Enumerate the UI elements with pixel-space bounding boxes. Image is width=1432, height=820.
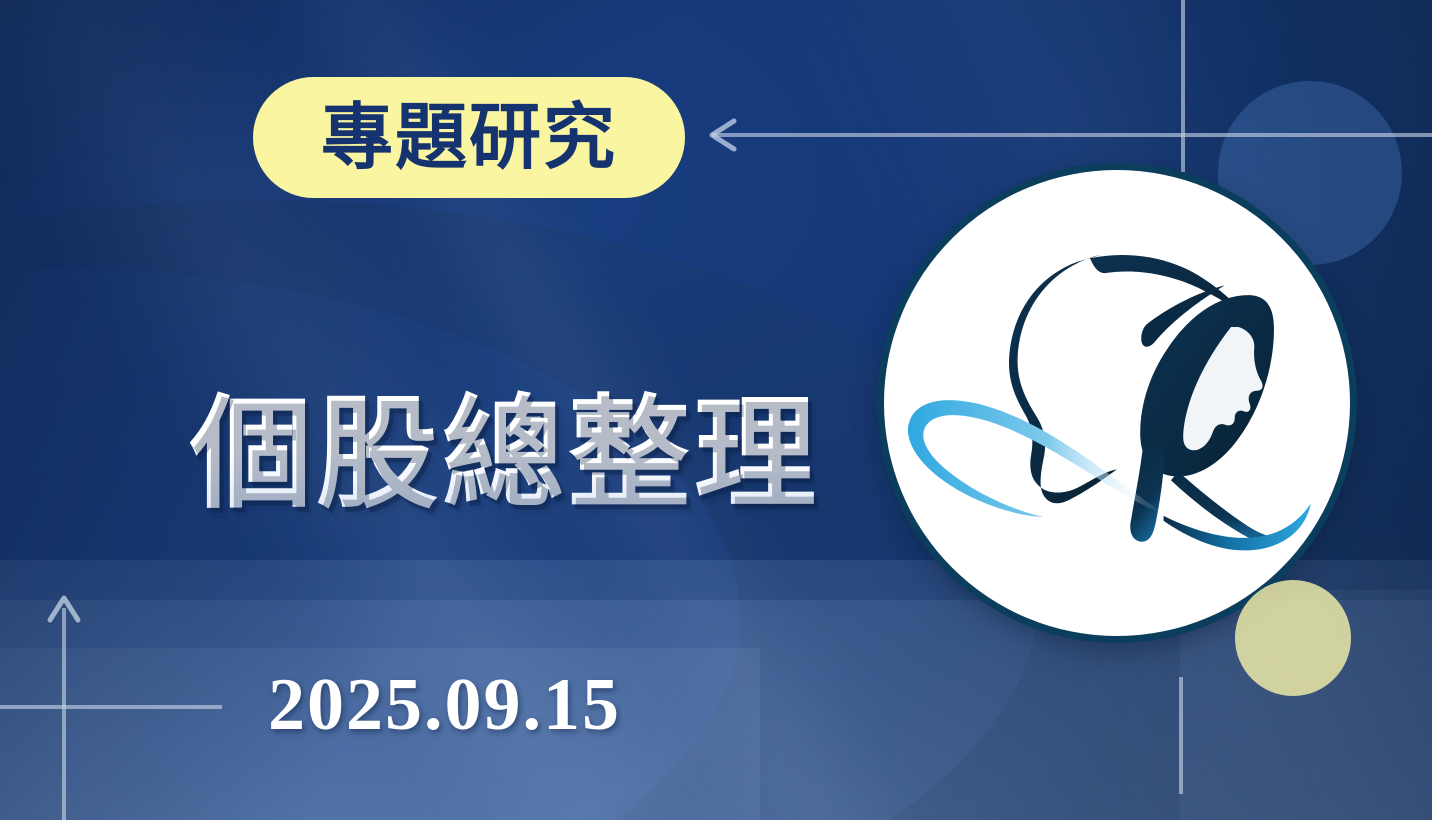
brand-logo — [884, 170, 1350, 636]
category-badge: 專題研究 — [253, 77, 685, 198]
accent-circle-yellow — [1235, 580, 1351, 696]
slide-canvas: 專題研究 個股總整理 2025.09.15 — [0, 0, 1432, 820]
category-badge-label: 專題研究 — [321, 102, 617, 174]
arrow-left-icon — [706, 117, 740, 153]
page-title: 個股總整理 — [190, 355, 820, 532]
guide-line-top-right-vertical — [1181, 0, 1185, 172]
guide-line-bottom-right-vertical — [1179, 677, 1183, 794]
guide-line-bottom-left-horizontal — [0, 705, 222, 709]
guide-line-bottom-left-vertical — [62, 608, 66, 820]
publish-date: 2025.09.15 — [268, 663, 621, 748]
guide-line-top-horizontal — [712, 133, 1432, 137]
brand-logo-mark-icon — [884, 170, 1350, 636]
arrow-up-icon — [46, 592, 82, 626]
